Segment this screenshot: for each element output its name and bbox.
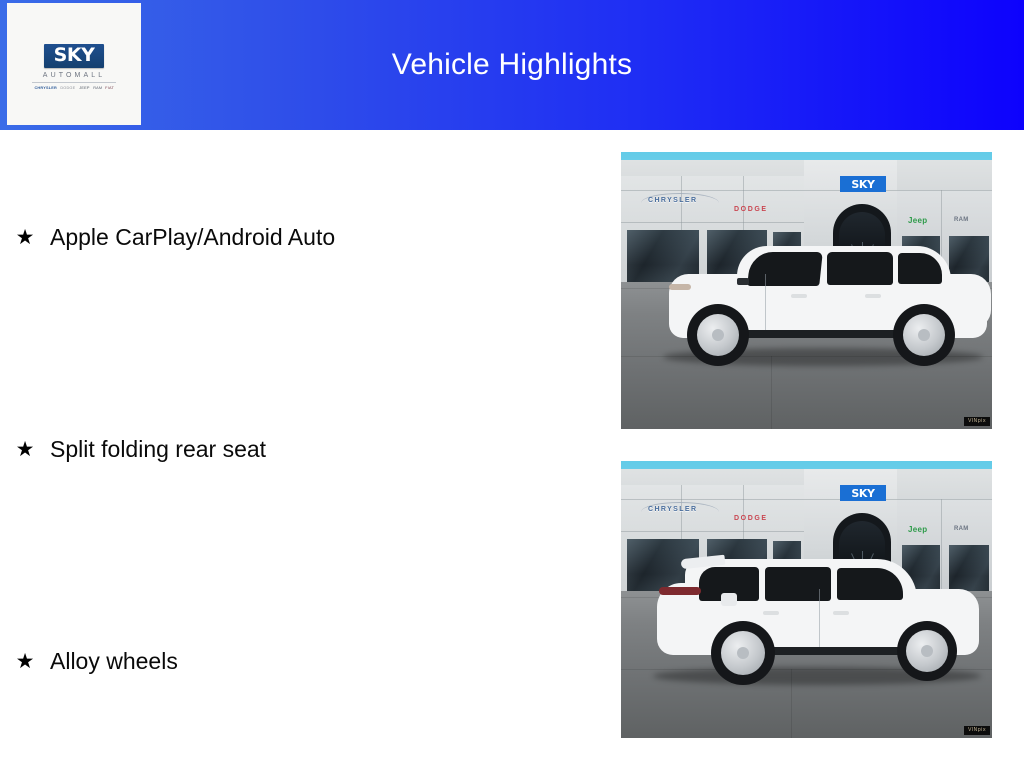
door-handle xyxy=(791,294,807,298)
panel-seam xyxy=(621,190,992,191)
page-title: Vehicle Highlights xyxy=(0,0,1024,130)
brand-fiat-icon: FIAT xyxy=(105,87,114,91)
panel-seam xyxy=(621,531,804,532)
highlight-label-3: Alloy wheels xyxy=(50,648,178,676)
side-mirror xyxy=(737,278,749,285)
door-handle xyxy=(865,294,881,298)
dealer-logo-card: SKY AUTOMALL CHRYSLER DODGE JEEP RAM FIA… xyxy=(7,3,141,125)
sign-sky-text: SKY xyxy=(851,488,874,499)
rocker-panel xyxy=(771,647,901,655)
vehicle-white-suv xyxy=(641,244,991,379)
panel-seam xyxy=(621,222,804,223)
logo-brand-row: CHRYSLER DODGE JEEP RAM FIAT xyxy=(34,86,115,90)
sign-ram: RAM xyxy=(954,526,969,532)
star-bullet-icon: ★ xyxy=(14,227,36,248)
vehicle-photo-front: SKY CHRYSLER DODGE Jeep RAM xyxy=(621,152,992,429)
headlamp xyxy=(669,284,691,290)
sign-sky: SKY xyxy=(840,176,886,192)
sky-logo-text: SKY xyxy=(54,46,95,66)
logo-divider xyxy=(32,82,116,83)
highlight-label-1: Apple CarPlay/Android Auto xyxy=(50,224,335,252)
wheel-hub xyxy=(712,329,724,341)
sign-dodge: DODGE xyxy=(734,206,768,213)
sign-jeep: Jeep xyxy=(908,216,927,225)
vehicle-rear-window xyxy=(827,252,893,285)
sign-ram: RAM xyxy=(954,217,969,223)
wheel-hub xyxy=(921,645,933,657)
highlights-list: ★ Apple CarPlay/Android Auto ★ Split fol… xyxy=(0,130,600,768)
header-bar: Vehicle Highlights xyxy=(0,0,1024,130)
star-bullet-icon: ★ xyxy=(14,439,36,460)
rocker-panel xyxy=(745,330,897,338)
star-bullet-icon: ★ xyxy=(14,651,36,672)
sign-chrysler: CHRYSLER xyxy=(648,506,697,513)
brand-ram-icon: RAM xyxy=(93,87,102,91)
door-seam xyxy=(819,589,820,647)
door-seam xyxy=(765,274,766,330)
sign-sky-text: SKY xyxy=(851,179,874,190)
brand-dodge-icon: DODGE xyxy=(60,87,75,91)
vehicle-rear-door-window xyxy=(765,567,831,601)
sign-jeep: Jeep xyxy=(908,525,927,534)
dealer-logo: SKY AUTOMALL CHRYSLER DODGE JEEP RAM FIA… xyxy=(32,44,116,91)
tail-lamp xyxy=(659,587,701,595)
wheel-hub xyxy=(918,329,930,341)
photo-watermark: VINpix xyxy=(964,726,990,735)
brand-jeep-icon: JEEP xyxy=(79,87,89,91)
photo-watermark: VINpix xyxy=(964,417,990,426)
sign-dodge: DODGE xyxy=(734,515,768,522)
vehicle-front-window xyxy=(747,252,823,286)
automall-tagline: AUTOMALL xyxy=(43,72,105,79)
sign-chrysler: CHRYSLER xyxy=(648,197,697,204)
list-item: ★ Split folding rear seat xyxy=(14,436,266,464)
sign-sky: SKY xyxy=(840,485,886,501)
list-item: ★ Alloy wheels xyxy=(14,648,178,676)
fuel-door xyxy=(721,593,737,606)
sky-logo-plate: SKY xyxy=(44,44,105,69)
panel-seam xyxy=(621,499,992,500)
slide-canvas: Vehicle Highlights SKY AUTOMALL CHRYSLER… xyxy=(0,0,1024,768)
door-handle xyxy=(763,611,779,615)
door-handle xyxy=(833,611,849,615)
vehicle-photo-rear: SKY CHRYSLER DODGE Jeep RAM xyxy=(621,461,992,738)
list-item: ★ Apple CarPlay/Android Auto xyxy=(14,224,335,252)
vehicle-white-suv xyxy=(633,559,985,699)
brand-chrysler-icon: CHRYSLER xyxy=(34,87,57,91)
vehicle-front-door-window xyxy=(837,568,903,600)
highlight-label-2: Split folding rear seat xyxy=(50,436,266,464)
wheel-hub xyxy=(737,647,749,659)
